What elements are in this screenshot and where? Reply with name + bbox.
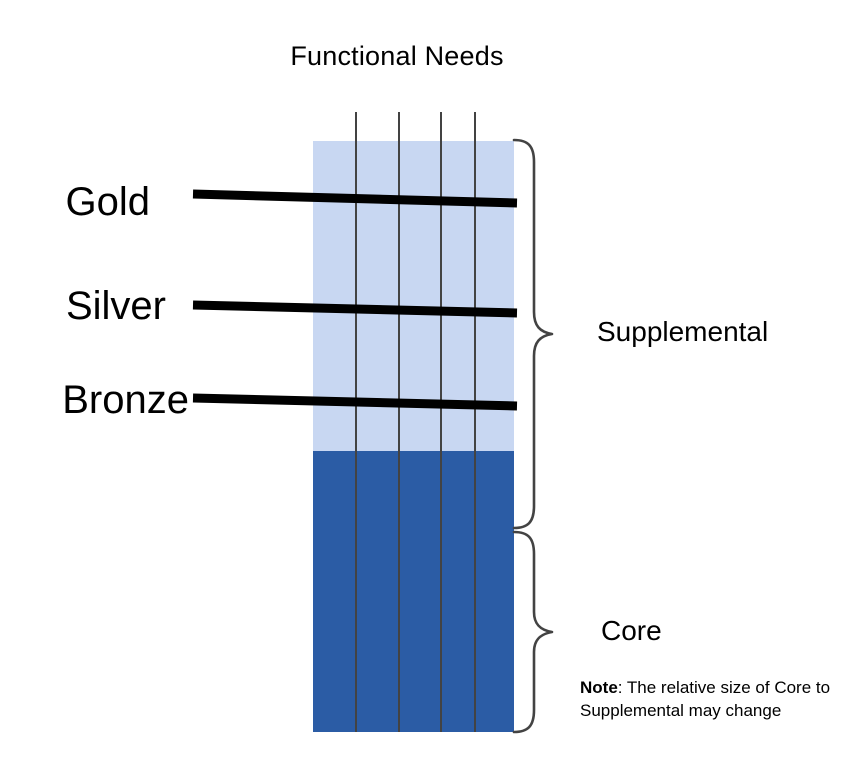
group-label-supplemental: Supplemental xyxy=(597,316,768,348)
tier-connector-gold xyxy=(193,190,517,204)
diagram-canvas: Functional Needs Gold Silver Bronze xyxy=(0,0,854,772)
bar-segment-core xyxy=(313,451,514,732)
page-title: Functional Needs xyxy=(0,40,854,72)
brace-core xyxy=(512,528,560,736)
tier-label-gold: Gold xyxy=(0,180,150,224)
page-title-text: Functional Needs xyxy=(290,41,503,71)
tier-label-bronze: Bronze xyxy=(0,378,189,422)
note-body: : The relative size of Core to Supplemen… xyxy=(580,678,830,720)
tier-connector-bronze xyxy=(193,393,517,407)
note-text: Note: The relative size of Core to Suppl… xyxy=(580,676,848,722)
tier-connector-silver xyxy=(193,300,517,314)
group-label-core: Core xyxy=(601,615,662,647)
brace-supplemental xyxy=(512,136,560,532)
tier-label-silver: Silver xyxy=(0,284,166,328)
note-prefix: Note xyxy=(580,678,618,697)
